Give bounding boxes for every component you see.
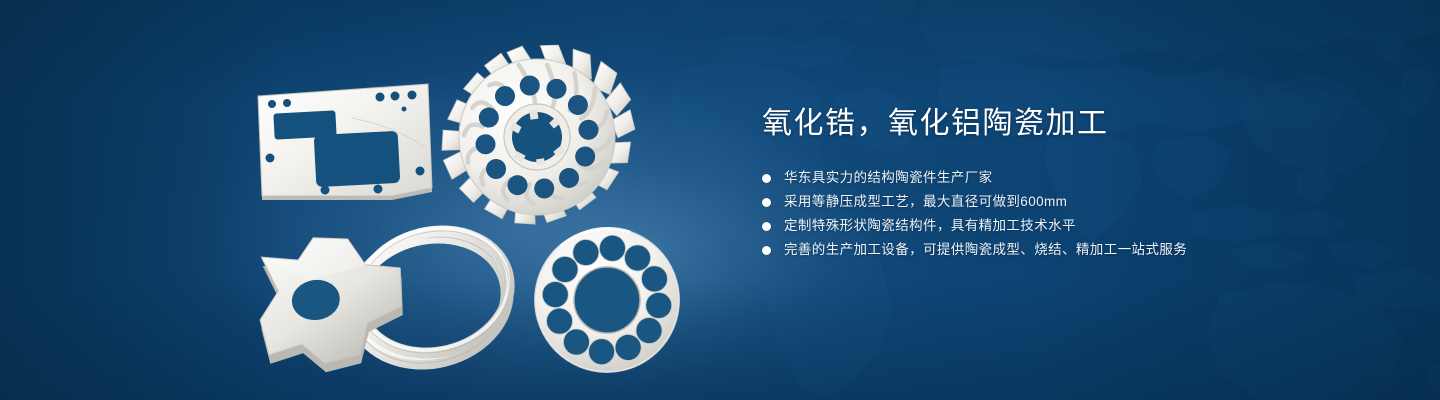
list-item-label: 华东具实力的结构陶瓷件生产厂家 — [784, 167, 993, 189]
list-item: 采用等静压成型工艺，最大直径可做到600mm — [762, 191, 1402, 213]
list-item-label: 完善的生产加工设备，可提供陶瓷成型、烧结、精加工一站式服务 — [784, 239, 1187, 261]
bullet-dot-icon — [762, 174, 771, 183]
bullet-dot-icon — [762, 222, 771, 231]
hero-banner: 氧化锆，氧化铝陶瓷加工 华东具实力的结构陶瓷件生产厂家 采用等静压成型工艺，最大… — [0, 0, 1440, 400]
feature-list: 华东具实力的结构陶瓷件生产厂家 采用等静压成型工艺，最大直径可做到600mm 定… — [762, 167, 1402, 261]
list-item: 定制特殊形状陶瓷结构件，具有精加工技术水平 — [762, 215, 1402, 237]
list-item: 完善的生产加工设备，可提供陶瓷成型、烧结、精加工一站式服务 — [762, 239, 1402, 261]
list-item-label: 采用等静压成型工艺，最大直径可做到600mm — [784, 191, 1067, 213]
page-title: 氧化锆，氧化铝陶瓷加工 — [762, 104, 1402, 143]
list-item: 华东具实力的结构陶瓷件生产厂家 — [762, 167, 1402, 189]
list-item-label: 定制特殊形状陶瓷结构件，具有精加工技术水平 — [784, 215, 1076, 237]
bullet-dot-icon — [762, 246, 771, 255]
bullet-dot-icon — [762, 198, 771, 207]
banner-text-block: 氧化锆，氧化铝陶瓷加工 华东具实力的结构陶瓷件生产厂家 采用等静压成型工艺，最大… — [762, 104, 1402, 263]
